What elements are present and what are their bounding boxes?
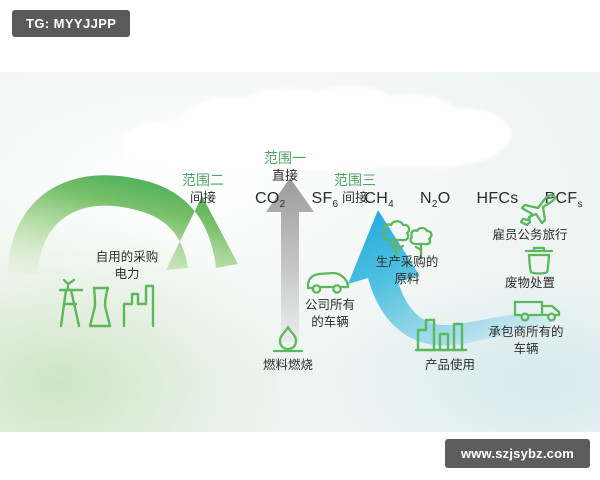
scope-label-3: 范围三 间接 — [315, 172, 395, 206]
label-product-use: 产品使用 — [400, 357, 500, 374]
scope-2-subtitle: 间接 — [163, 190, 243, 206]
scope-1-title: 范围一 — [245, 150, 325, 168]
scope-3-subtitle: 间接 — [315, 190, 395, 206]
trash-bin-icon — [522, 244, 556, 276]
scope-2-title: 范围二 — [163, 172, 243, 190]
car-icon — [305, 268, 351, 296]
label-contractor-owned-vehicles: 承包商所有的 车辆 — [458, 324, 594, 358]
label-waste-disposal: 废物处置 — [470, 275, 590, 292]
label-employee-business-travel: 雇员公务旅行 — [470, 227, 590, 244]
scope-3-title: 范围三 — [315, 172, 395, 190]
gas-label-co2: CO2 — [255, 190, 285, 210]
label-company-owned-vehicles: 公司所有 的车辆 — [285, 297, 375, 331]
gas-label-n2o: N2O — [420, 190, 450, 210]
gas-label-hfcs: HFCs — [476, 190, 518, 208]
label-purchased-electricity: 自用的采购 电力 — [72, 249, 182, 283]
label-purchased-raw-materials: 生产采购的 原料 — [352, 254, 462, 288]
airplane-icon — [518, 192, 558, 226]
truck-icon — [512, 296, 566, 324]
scope-label-1: 范围一 直接 — [245, 150, 325, 184]
label-fuel-combustion: 燃料燃烧 — [238, 357, 338, 374]
tg-watermark-badge: TG: MYYJJPP — [12, 10, 130, 37]
website-watermark-badge: www.szjsybz.com — [445, 439, 590, 468]
scope-1-subtitle: 直接 — [245, 168, 325, 184]
ghg-scopes-diagram: CO2 SF6 CH4 N2O HFCs PCFs — [0, 72, 600, 432]
scope-label-2: 范围二 间接 — [163, 172, 243, 206]
